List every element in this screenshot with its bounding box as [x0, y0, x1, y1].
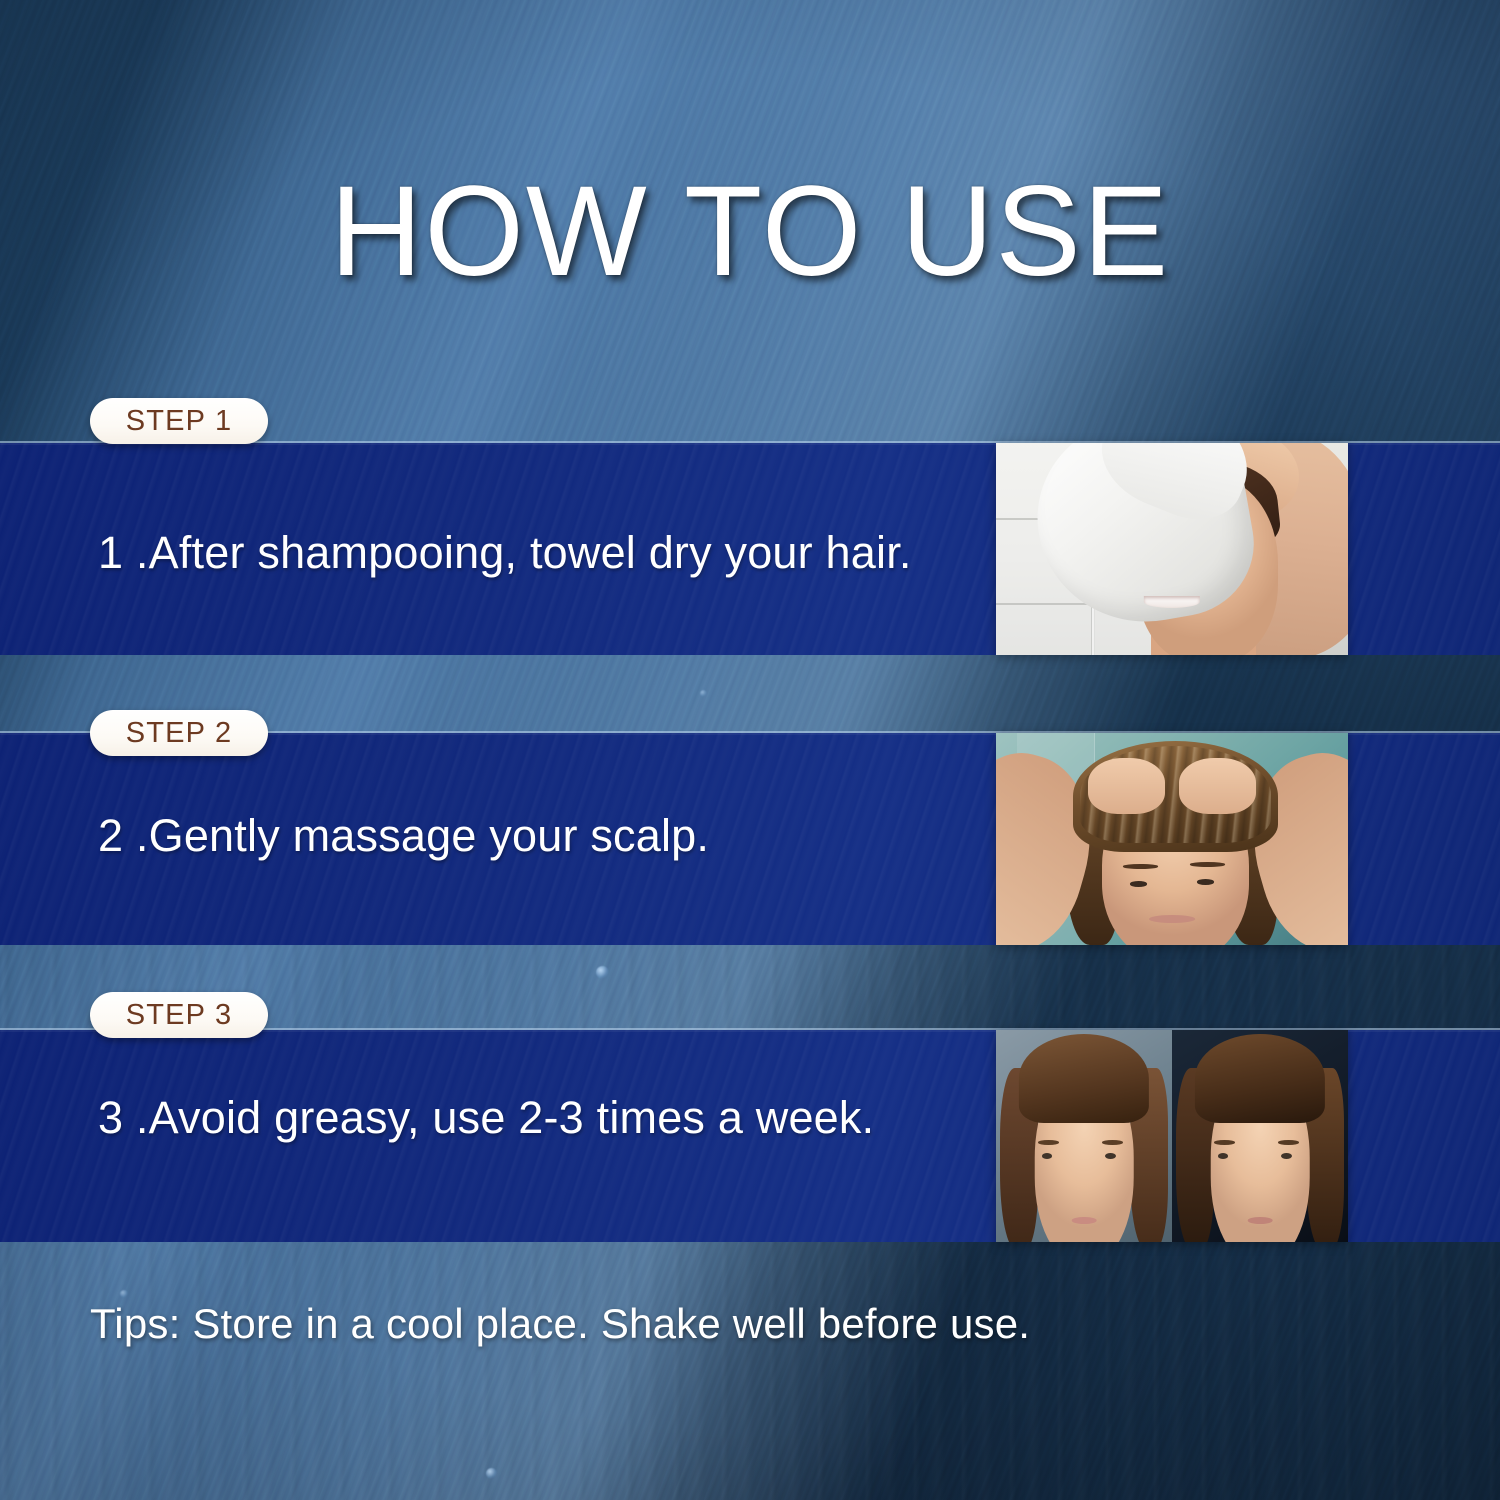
- step-text-2: 2 .Gently massage your scalp.: [98, 810, 709, 862]
- step-badge-3: STEP 3: [90, 992, 268, 1038]
- step-badge-1: STEP 1: [90, 398, 268, 444]
- tips-text: Tips: Store in a cool place. Shake well …: [90, 1300, 1030, 1348]
- step-text-1: 1 .After shampooing, towel dry your hair…: [98, 527, 912, 579]
- before-portrait: [996, 1030, 1172, 1242]
- step-text-3: 3 .Avoid greasy, use 2-3 times a week.: [98, 1092, 874, 1144]
- page-title: HOW TO USE: [0, 168, 1500, 296]
- step-image-1: [996, 443, 1348, 655]
- step-image-3: [996, 1030, 1348, 1242]
- step-badge-2: STEP 2: [90, 710, 268, 756]
- step-image-2: [996, 733, 1348, 945]
- after-portrait: [1172, 1030, 1348, 1242]
